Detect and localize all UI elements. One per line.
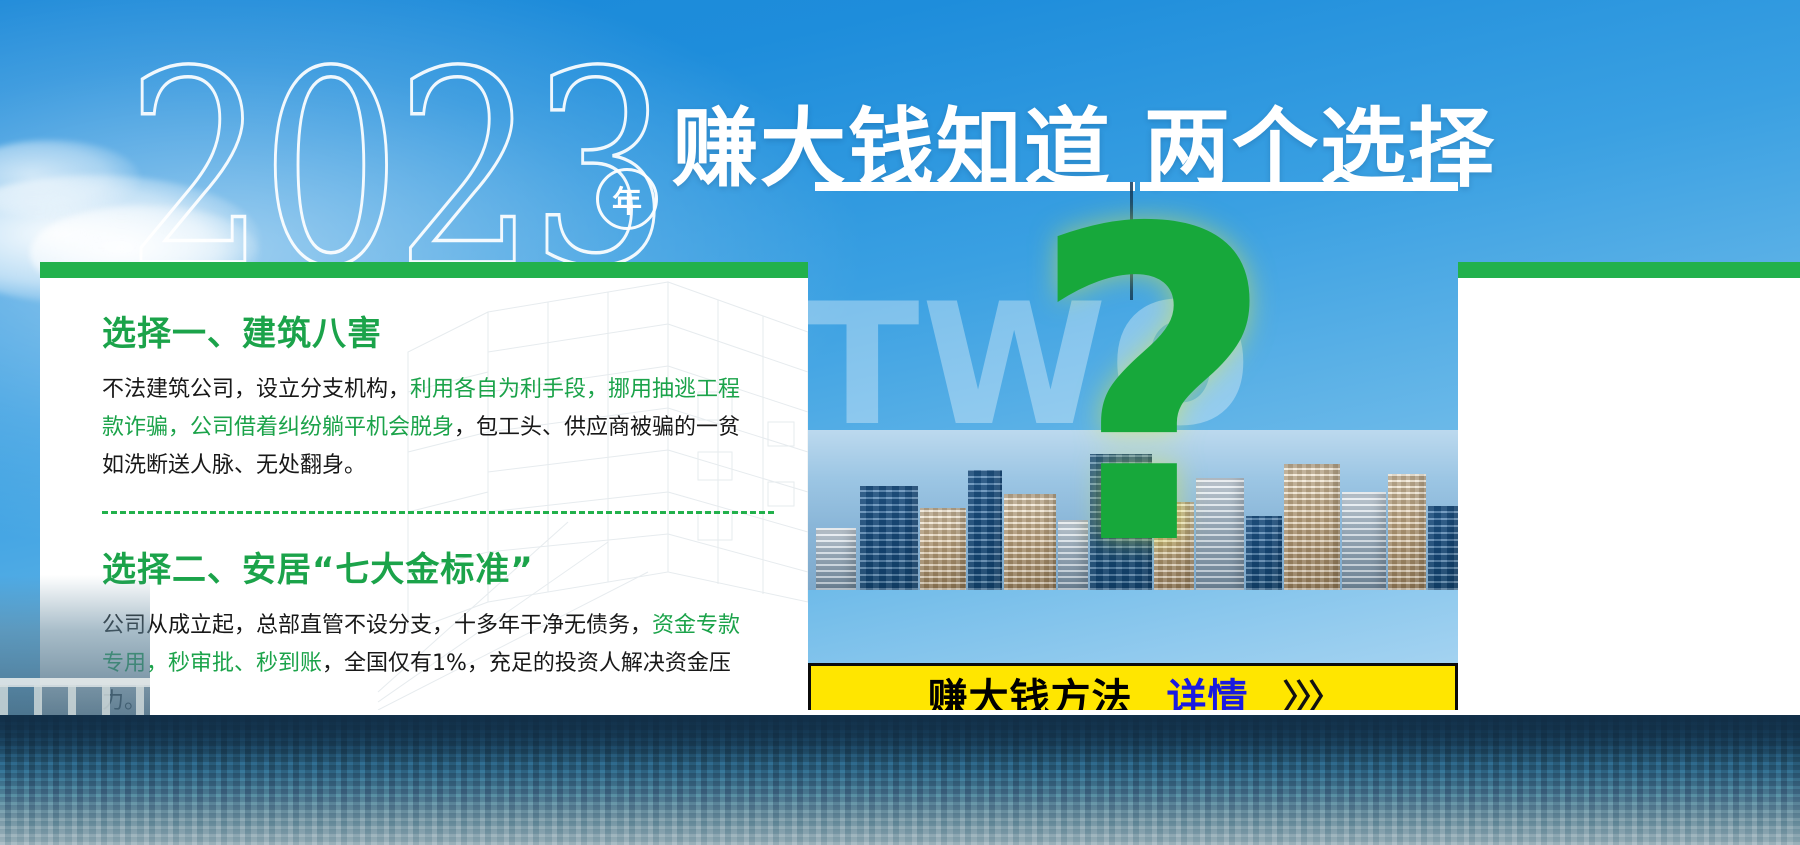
question-mark-icon: ? <box>1028 210 1277 571</box>
text-run: 公司从成立起，总部直管不设分支，十多年干净无债务， <box>102 613 652 638</box>
section-two: 选择二、安居“七大金标准” 公司从成立起，总部直管不设分支，十多年干净无债务，资… <box>102 542 780 710</box>
content-card: 选择一、建筑八害 不法建筑公司，设立分支机构，利用各自为利手段，挪用抽逃工程款诈… <box>40 262 808 710</box>
section-two-text: 公司从成立起，总部直管不设分支，十多年干净无债务，资金专款专用，秒审批、秒到账，… <box>102 607 762 710</box>
city-reflection-band <box>0 715 1800 845</box>
text-run: 不法建筑公司，设立分支机构， <box>102 377 410 402</box>
white-panel-right <box>1458 278 1800 710</box>
green-accent-bar-card <box>40 262 808 278</box>
poster-stage: 2023 2023 年 赚大钱知道 两个选择 TWO CHOICES ? <box>0 0 1800 845</box>
section-divider <box>102 511 774 514</box>
year-suffix-badge: 年 <box>596 168 658 230</box>
bridge-foreground <box>0 575 150 715</box>
section-one-text: 不法建筑公司，设立分支机构，利用各自为利手段，挪用抽逃工程款诈骗，公司借着纠纷躺… <box>102 371 762 485</box>
green-accent-bar-right <box>1458 262 1800 278</box>
card-body: 选择一、建筑八害 不法建筑公司，设立分支机构，利用各自为利手段，挪用抽逃工程款诈… <box>102 306 780 710</box>
section-one-title: 选择一、建筑八害 <box>102 306 780 355</box>
section-two-title: 选择二、安居“七大金标准” <box>102 542 780 591</box>
section-one: 选择一、建筑八害 不法建筑公司，设立分支机构，利用各自为利手段，挪用抽逃工程款诈… <box>102 306 780 485</box>
